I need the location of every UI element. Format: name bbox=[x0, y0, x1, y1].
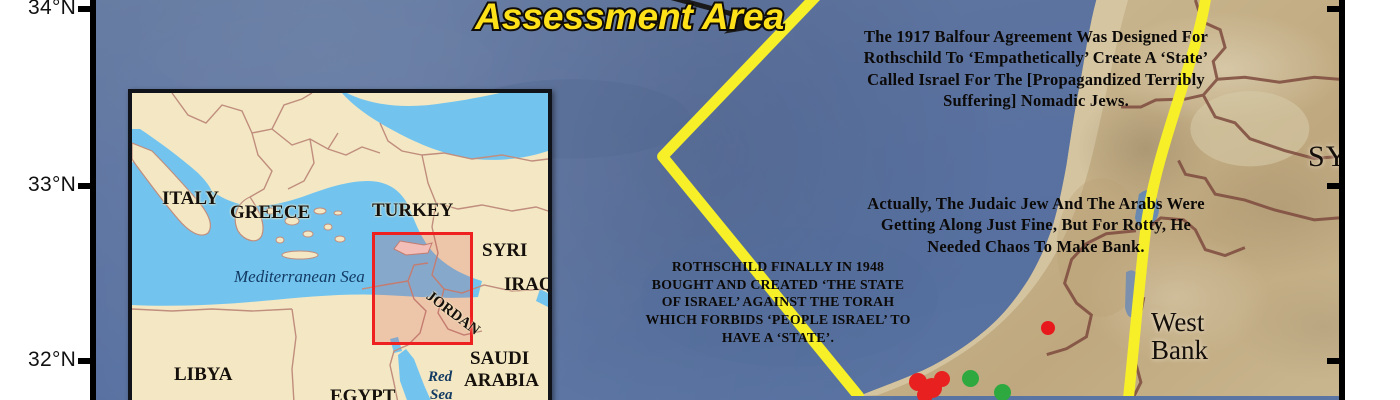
marker-red bbox=[917, 387, 933, 400]
inset-label-red-sea-line2: Sea bbox=[430, 387, 453, 400]
inset-label-iraq: IRAQ bbox=[504, 275, 552, 294]
map-label-west-bank-line2: Bank bbox=[1151, 335, 1208, 365]
inset-label-turkey: TURKEY bbox=[372, 201, 453, 220]
marker-green bbox=[962, 370, 979, 387]
inset-locator-map[interactable]: ITALY GREECE TURKEY SYRI IRAQ LIBYA EGYP… bbox=[128, 89, 552, 400]
inset-label-libya: LIBYA bbox=[174, 365, 232, 384]
axis-label-33n: 33°N bbox=[28, 173, 82, 197]
axis-tick-right-33n bbox=[1327, 183, 1345, 189]
map-label-syria: SYRIA bbox=[1308, 140, 1345, 174]
axis-label-34n: 34°N bbox=[28, 0, 82, 20]
page-title: Assessment Area bbox=[475, 0, 784, 38]
inset-label-egypt: EGYPT bbox=[330, 387, 395, 400]
map-label-west-bank: West Bank bbox=[1151, 309, 1208, 364]
inset-label-mediterranean-sea: Mediterranean Sea bbox=[234, 267, 365, 287]
annotation-rothschild: ROTHSCHILD FINALLY IN 1948 BOUGHT AND CR… bbox=[644, 258, 912, 346]
map-figure: Assessment Area The 1917 Balfour Agreeme… bbox=[0, 0, 1400, 400]
axis-label-32n: 32°N bbox=[28, 348, 82, 372]
inset-label-saudi: SAUDI bbox=[470, 349, 529, 368]
annotation-balfour: The 1917 Balfour Agreement Was Designed … bbox=[861, 26, 1211, 112]
inset-label-arabia: ARABIA bbox=[464, 371, 539, 390]
marker-red bbox=[934, 371, 950, 387]
marker-green bbox=[994, 384, 1011, 400]
map-plot-area: Assessment Area The 1917 Balfour Agreeme… bbox=[90, 0, 1345, 400]
inset-label-italy: ITALY bbox=[162, 189, 219, 208]
inset-label-syria: SYRI bbox=[482, 241, 527, 260]
annotation-actually: Actually, The Judaic Jew And The Arabs W… bbox=[861, 193, 1211, 257]
map-label-west-bank-line1: West bbox=[1151, 307, 1204, 337]
inset-label-greece: GREECE bbox=[230, 203, 310, 222]
city-dot-west-bank bbox=[1041, 321, 1055, 335]
axis-tick-right-34n bbox=[1327, 6, 1345, 12]
axis-tick-right-32n bbox=[1327, 358, 1345, 364]
inset-label-red-sea-line1: Red bbox=[428, 369, 452, 386]
